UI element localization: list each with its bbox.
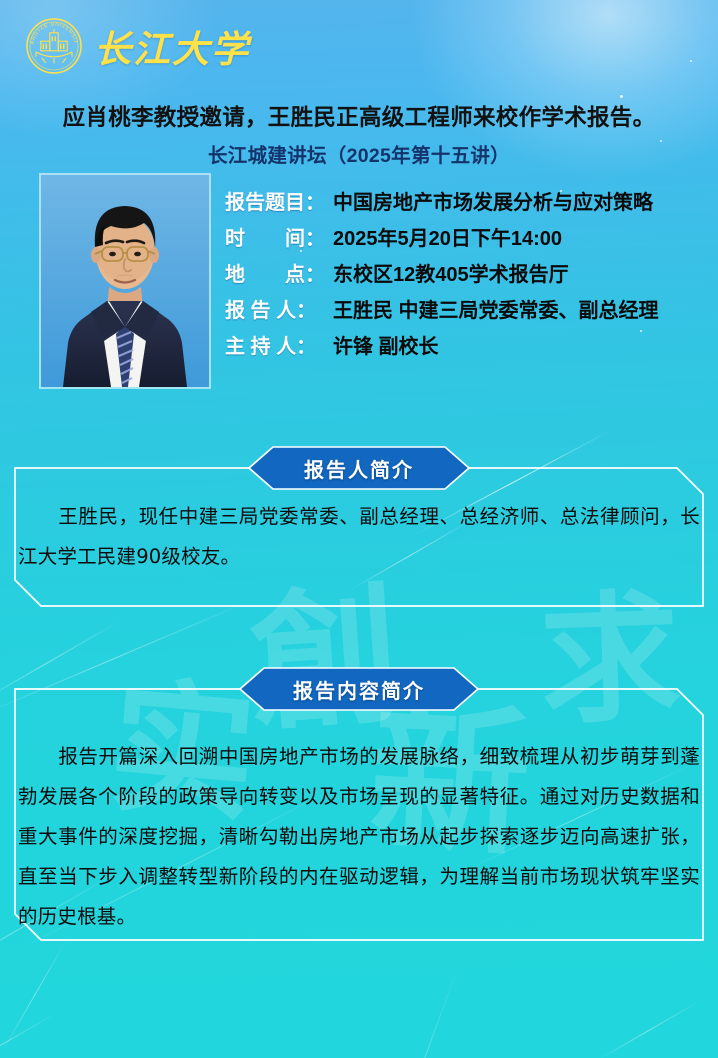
light-streak bbox=[0, 934, 71, 1056]
speaker-portrait bbox=[41, 175, 209, 387]
watermark-char-1: 創 bbox=[245, 580, 405, 740]
info-label-host: 主 持 人： bbox=[225, 330, 333, 359]
info-row: 报告题目： 中国房地产市场发展分析与应对策略 bbox=[225, 186, 705, 215]
info-value-speaker: 王胜民 中建三局党委常委、副总经理 bbox=[333, 294, 659, 323]
light-streak bbox=[391, 960, 461, 1058]
info-row: 时 间： 2025年5月20日下午14:00 bbox=[225, 222, 705, 251]
info-label-time: 时 间： bbox=[225, 222, 333, 251]
info-label-topic: 报告题目： bbox=[225, 186, 333, 215]
page-subtitle: 长江城建讲坛（2025年第十五讲） bbox=[0, 139, 718, 168]
university-name-cn: 长江大学 bbox=[94, 19, 250, 73]
info-value-time: 2025年5月20日下午14:00 bbox=[333, 222, 562, 251]
event-info-block: 报告题目： 中国房地产市场发展分析与应对策略 时 间： 2025年5月20日下午… bbox=[225, 186, 705, 366]
poster-canvas: 創 新 求 实 YANGTZE UNIVERSITY bbox=[0, 0, 718, 1058]
info-row: 主 持 人： 许锋 副校长 bbox=[225, 330, 705, 359]
info-row: 地 点： 东校区12教405学术报告厅 bbox=[225, 258, 705, 287]
info-value-place: 东校区12教405学术报告厅 bbox=[333, 258, 569, 287]
section-banner-label: 报告内容简介 bbox=[293, 675, 425, 704]
light-streak bbox=[0, 600, 250, 718]
section-body-speaker-bio: 王胜民，现任中建三局党委常委、副总经理、总经济师、总法律顾问，长江大学工民建90… bbox=[18, 497, 700, 577]
info-label-place: 地 点： bbox=[225, 258, 333, 287]
info-value-host: 许锋 副校长 bbox=[333, 330, 439, 359]
section-body-text: 报告开篇深入回溯中国房地产市场的发展脉络，细致梳理从初步萌芽到蓬勃发展各个阶段的… bbox=[18, 745, 700, 928]
sparkle-dot bbox=[620, 95, 623, 98]
section-banner-speaker-bio: 报告人简介 bbox=[248, 446, 470, 490]
university-crest-icon: YANGTZE UNIVERSITY bbox=[24, 16, 84, 76]
university-logo: YANGTZE UNIVERSITY 长江大学 bbox=[24, 16, 250, 76]
info-row: 报 告 人： 王胜民 中建三局党委常委、副总经理 bbox=[225, 294, 705, 323]
section-body-text: 王胜民，现任中建三局党委常委、副总经理、总经济师、总法律顾问，长江大学工民建90… bbox=[18, 505, 700, 568]
page-title: 应肖桃李教授邀请，王胜民正高级工程师来校作学术报告。 bbox=[0, 100, 718, 132]
light-streak bbox=[0, 1010, 60, 1058]
light-streak bbox=[596, 1000, 701, 1058]
section-body-talk-abstract: 报告开篇深入回溯中国房地产市场的发展脉络，细致梳理从初步萌芽到蓬勃发展各个阶段的… bbox=[18, 737, 700, 937]
speaker-portrait-photo bbox=[41, 175, 209, 387]
info-label-speaker: 报 告 人： bbox=[225, 294, 333, 323]
info-value-topic: 中国房地产市场发展分析与应对策略 bbox=[333, 186, 653, 215]
section-banner-label: 报告人简介 bbox=[304, 454, 414, 483]
sparkle-dot bbox=[690, 60, 692, 62]
light-streak bbox=[0, 620, 120, 706]
watermark-char-3: 求 bbox=[538, 588, 683, 733]
section-banner-talk-abstract: 报告内容简介 bbox=[239, 667, 479, 711]
